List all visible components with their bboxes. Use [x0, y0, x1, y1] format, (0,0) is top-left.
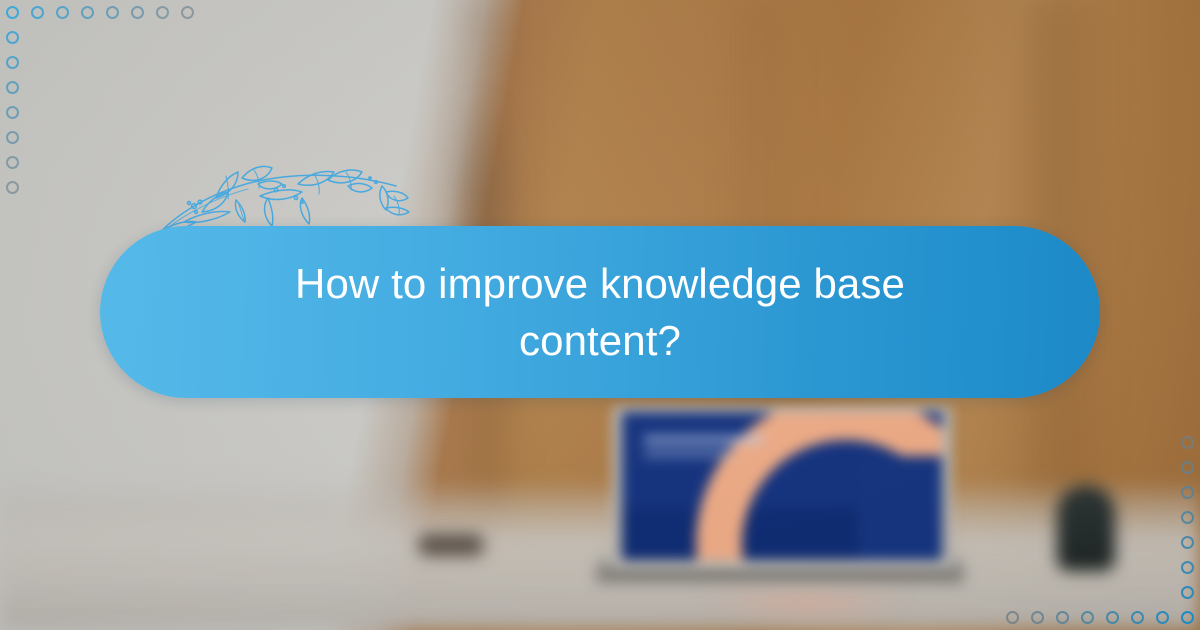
decorative-dot	[1181, 486, 1194, 499]
social-card: How to improve knowledge base content?	[0, 0, 1200, 630]
decorative-dot	[131, 6, 144, 19]
decorative-dot	[1156, 611, 1169, 624]
decorative-dot	[6, 6, 19, 19]
decorative-dot	[6, 56, 19, 69]
dot-grid-bottom-right	[1000, 430, 1200, 630]
decorative-dot	[1106, 611, 1119, 624]
decorative-dot	[156, 6, 169, 19]
decorative-dot	[1181, 461, 1194, 474]
decorative-dot	[1181, 436, 1194, 449]
decorative-dot	[1181, 611, 1194, 624]
page-title: How to improve knowledge base content?	[295, 255, 905, 369]
dot-grid-top-left	[0, 0, 200, 200]
decorative-dot	[81, 6, 94, 19]
decorative-dot	[1131, 611, 1144, 624]
decorative-dot	[1181, 536, 1194, 549]
decorative-dot	[1181, 561, 1194, 574]
decorative-dot	[31, 6, 44, 19]
headline-pill: How to improve knowledge base content?	[100, 226, 1100, 398]
decorative-dot	[1081, 611, 1094, 624]
decorative-dot	[106, 6, 119, 19]
decorative-dot	[1006, 611, 1019, 624]
decorative-dot	[6, 181, 19, 194]
decorative-dot	[1031, 611, 1044, 624]
decorative-dot	[6, 131, 19, 144]
decorative-dot	[1056, 611, 1069, 624]
decorative-dot	[6, 81, 19, 94]
decorative-dot	[56, 6, 69, 19]
decorative-dot	[181, 6, 194, 19]
decorative-dot	[6, 156, 19, 169]
decorative-dot	[1181, 586, 1194, 599]
decorative-dot	[1181, 511, 1194, 524]
decorative-dot	[6, 31, 19, 44]
decorative-dot	[6, 106, 19, 119]
